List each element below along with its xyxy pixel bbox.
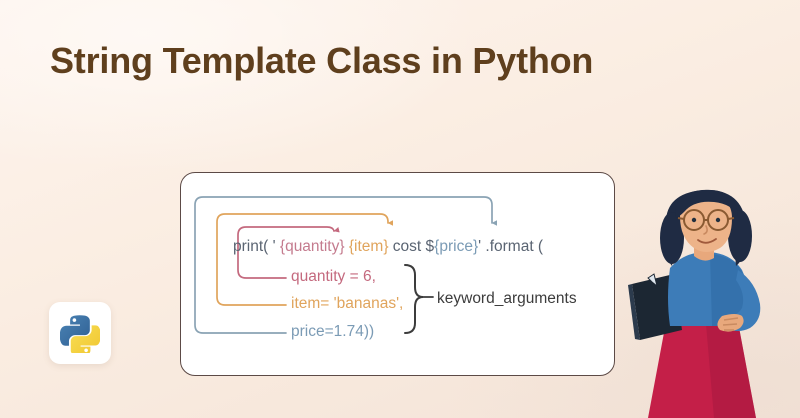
top-shade [710, 254, 748, 326]
code-diagram-svg: print( ' {quantity} {item} cost ${price}… [181, 173, 615, 376]
price-connector [195, 197, 492, 333]
python-logo-icon [60, 313, 100, 353]
left-arm [656, 274, 680, 326]
glasses-icon [678, 210, 734, 230]
hair-back [665, 190, 747, 266]
python-logo-tile [49, 302, 111, 364]
keyword-arguments-brace [405, 265, 433, 333]
right-hand [717, 314, 743, 332]
code-line-print: print( ' {quantity} {item} cost ${price}… [233, 238, 544, 255]
hand-lines [723, 318, 738, 330]
woman-with-notebook-illustration [610, 182, 800, 418]
right-eye [716, 218, 720, 222]
page-title: String Template Class in Python [50, 40, 593, 82]
skirt [648, 322, 756, 418]
code-line-item: item= 'bananas', [291, 295, 403, 312]
code-line-price: price=1.74)) [291, 323, 374, 340]
smile [698, 239, 716, 243]
hair-right [728, 210, 752, 262]
code-diagram-card: print( ' {quantity} {item} cost ${price}… [180, 172, 615, 376]
code-line-quantity: quantity = 6, [291, 268, 376, 285]
face [680, 196, 732, 252]
nose [704, 226, 707, 234]
hair-left [660, 212, 684, 264]
skirt-shade [706, 322, 756, 418]
keyword-arguments-label: keyword_arguments [437, 290, 577, 307]
neck [694, 238, 714, 261]
right-arm [720, 270, 760, 331]
notebook [628, 274, 682, 340]
hair-fringe [676, 190, 738, 218]
top [668, 252, 748, 326]
left-eye [692, 218, 696, 222]
